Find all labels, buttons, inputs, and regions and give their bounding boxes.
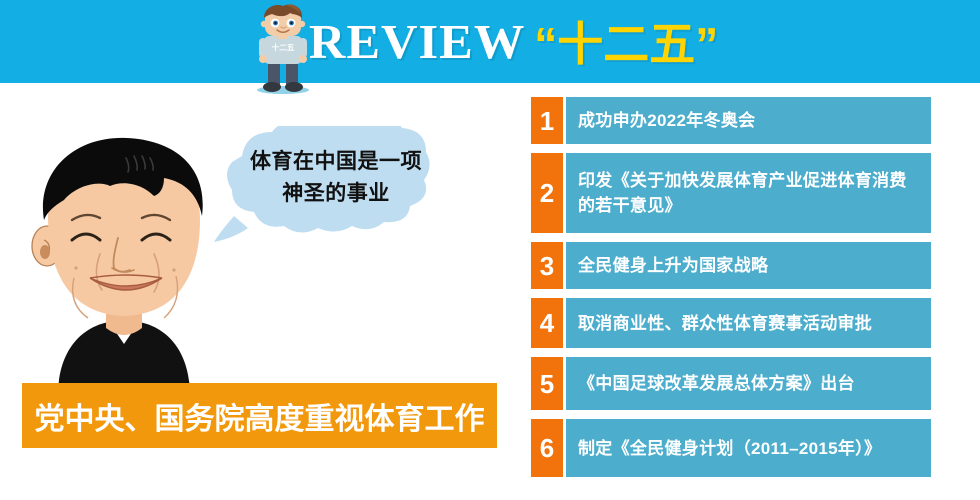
list-item-text: 取消商业性、群众性体育赛事活动审批 [566,298,931,348]
list-item-number: 5 [531,357,563,410]
mascot-shirt-label: 十二五 [272,42,295,52]
list-item-text: 印发《关于加快发展体育产业促进体育消费的若干意见》 [566,153,931,233]
list-item[interactable]: 2 印发《关于加快发展体育产业促进体育消费的若干意见》 [531,153,931,233]
bottom-banner-text: 党中央、国务院高度重视体育工作 [35,394,485,438]
list-item[interactable]: 1 成功申办2022年冬奥会 [531,97,931,144]
list-item[interactable]: 5 《中国足球改革发展总体方案》出台 [531,357,931,410]
page-title-chinese: “十二五” [534,8,718,74]
speech-bubble-text: 体育在中国是一项 神圣的事业 [206,126,456,230]
list-item-text: 全民健身上升为国家战略 [566,242,931,289]
page-title-english: REVIEW [309,13,526,70]
list-item-number: 1 [531,97,563,144]
speech-bubble-line-1: 体育在中国是一项 [250,146,422,178]
list-item-number: 4 [531,298,563,348]
list-item[interactable]: 4 取消商业性、群众性体育赛事活动审批 [531,298,931,348]
list-item-text: 成功申办2022年冬奥会 [566,97,931,144]
list-item[interactable]: 3 全民健身上升为国家战略 [531,242,931,289]
header-title: REVIEW “十二五” [312,6,718,76]
list-item-number: 3 [531,242,563,289]
list-item-number: 6 [531,419,563,477]
speech-bubble: 体育在中国是一项 神圣的事业 [206,126,468,248]
speech-bubble-line-2: 神圣的事业 [282,178,390,210]
list-item-number: 2 [531,153,563,233]
bottom-banner: 党中央、国务院高度重视体育工作 [22,383,497,448]
list-item-text: 制定《全民健身计划（2011–2015年）》 [566,419,931,477]
infographic-root: 十二五 REVIEW “十二五” [0,0,980,500]
list-item-text: 《中国足球改革发展总体方案》出台 [566,357,931,410]
smiling-man-cartoon-portrait [14,128,234,396]
achievement-list: 1 成功申办2022年冬奥会 2 印发《关于加快发展体育产业促进体育消费的若干意… [531,97,931,486]
list-item[interactable]: 6 制定《全民健身计划（2011–2015年）》 [531,419,931,477]
